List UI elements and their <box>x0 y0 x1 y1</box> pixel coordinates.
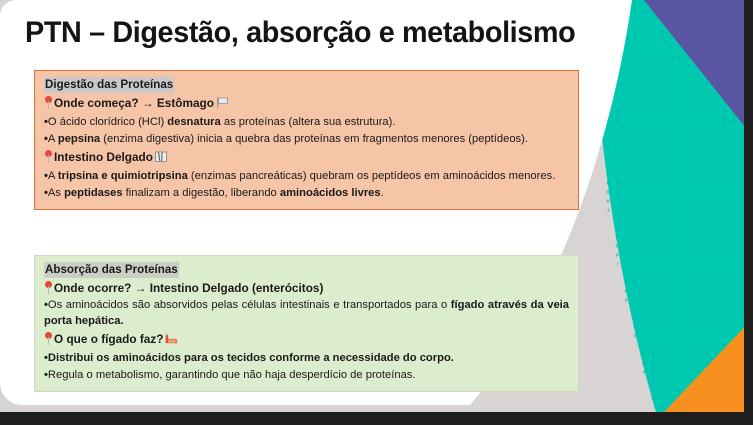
bullet-peptidases-text-2: peptidases <box>64 187 122 199</box>
bullet-peptidases-text-3: finalizam a digestão, liberando <box>123 187 280 199</box>
bullet-tripsina-text-1: A <box>48 170 58 182</box>
pin-icon <box>44 332 53 345</box>
bullet-pepsina-text-3: (enzima digestiva) inicia a quebra das p… <box>100 133 528 145</box>
slide-canvas: PTN – Digestão, absorção e metabolismo D… <box>0 0 753 425</box>
section-figado: O que o fígado faz? <box>44 331 569 350</box>
section-intestino-delgado-label: Intestino Delgado <box>54 150 153 164</box>
bullet-peptidases-text-1: As <box>48 187 64 199</box>
intestine-icon <box>155 151 167 168</box>
bullet-peptidases-text-4: aminoácidos livres <box>280 187 381 199</box>
bullet-hcl-text-1: O ácido clorídrico (HCl) <box>48 116 167 128</box>
bullet-regula-text: Regula o metabolismo, garantindo que não… <box>48 369 416 381</box>
slide-frame-bottom <box>0 412 753 425</box>
bullet-hcl-text-3: as proteínas (altera sua estrutura). <box>221 116 396 128</box>
section-figado-label: O que o fígado faz? <box>54 332 163 346</box>
bullet-absorcao-text-1: Os aminoácidos são absorvidos pelas célu… <box>48 299 451 311</box>
section-intestino-delgado: Intestino Delgado <box>44 149 569 168</box>
bullet-peptidases: •As peptidases finalizam a digestão, lib… <box>44 186 569 202</box>
bullet-hcl: •O ácido clorídrico (HCl) desnatura as p… <box>44 115 569 131</box>
panel-digestao-heading: Digestão das Proteínas <box>44 77 174 93</box>
bullet-distribui-text: Distribui os aminoácidos para os tecidos… <box>48 352 454 364</box>
section-onde-comeca-label: Onde começa? → Estômago <box>54 96 214 110</box>
panel-digestao: Digestão das Proteínas Onde começa? → Es… <box>34 70 579 210</box>
factory-icon <box>165 333 178 350</box>
bullet-distribui: •Distribui os aminoácidos para os tecido… <box>44 351 569 367</box>
bullet-absorcao: •Os aminoácidos são absorvidos pelas cél… <box>44 298 569 330</box>
pin-icon <box>44 150 53 163</box>
bullet-peptidases-text-5: . <box>381 187 384 199</box>
section-onde-comeca: Onde começa? → Estômago <box>44 95 569 114</box>
bullet-tripsina-text-3: (enzimas pancreáticas) quebram os peptíd… <box>188 170 556 182</box>
panel-absorcao-heading: Absorção das Proteínas <box>44 262 179 278</box>
flag-icon <box>216 97 229 114</box>
bullet-pepsina-text-1: A <box>48 133 58 145</box>
panel-absorcao: Absorção das Proteínas Onde ocorre? → In… <box>34 255 579 392</box>
slide-frame-right <box>744 0 753 425</box>
bullet-tripsina: •A tripsina e quimiotripsina (enzimas pa… <box>44 169 569 185</box>
section-onde-ocorre: Onde ocorre? → Intestino Delgado (enteró… <box>44 280 569 297</box>
slide-title: PTN – Digestão, absorção e metabolismo <box>25 16 575 50</box>
pin-icon <box>44 96 53 109</box>
bullet-tripsina-text-2: tripsina e quimiotripsina <box>58 170 188 182</box>
bullet-regula: •Regula o metabolismo, garantindo que nã… <box>44 368 569 384</box>
pin-icon <box>44 281 53 294</box>
bullet-hcl-text-2: desnatura <box>167 116 220 128</box>
bullet-pepsina-text-2: pepsina <box>58 133 100 145</box>
bullet-pepsina: •A pepsina (enzima digestiva) inicia a q… <box>44 132 569 148</box>
section-onde-ocorre-label: Onde ocorre? → Intestino Delgado (enteró… <box>54 281 323 295</box>
